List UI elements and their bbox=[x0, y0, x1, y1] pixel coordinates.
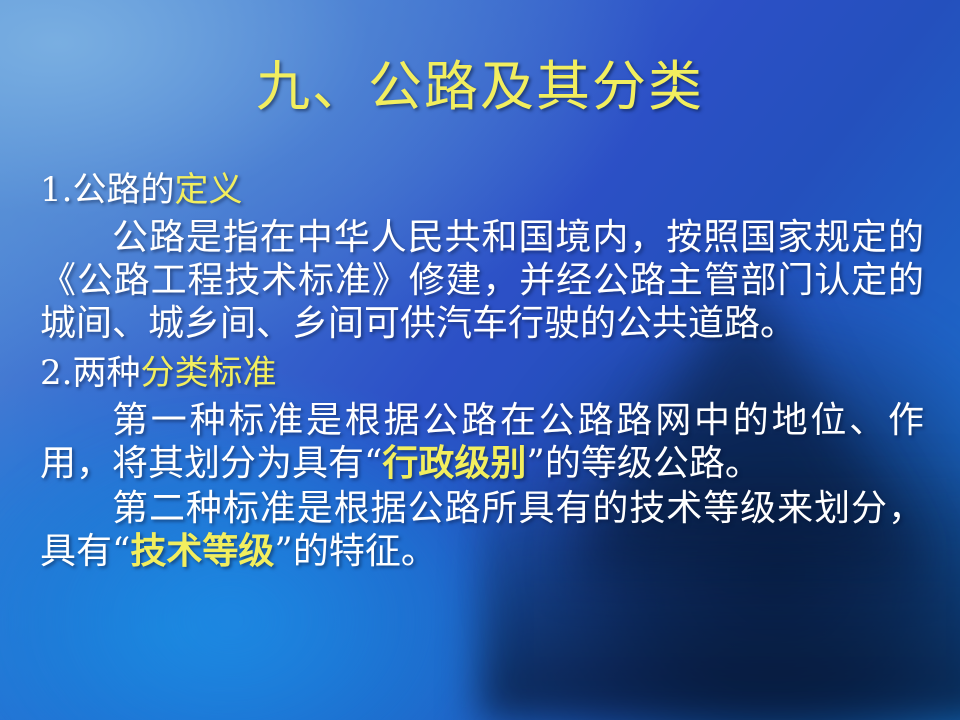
paragraph-standard-one: 第一种标准是根据公路在公路路网中的地位、作用，将其划分为具有“行政级别”的等级公… bbox=[40, 399, 924, 485]
paragraph-standard-one-after: ”的等级公路。 bbox=[526, 443, 760, 484]
paragraph-standard-two: 第二种标准是根据公路所具有的技术等级来划分，具有“技术等级”的特征。 bbox=[40, 487, 924, 573]
paragraph-standard-two-highlight: 技术等级 bbox=[130, 530, 274, 572]
heading-definition-plain: 1.公路的 bbox=[40, 170, 174, 210]
slide-title: 九、公路及其分类 bbox=[0, 56, 960, 118]
heading-standards-plain: 2.两种 bbox=[40, 353, 140, 393]
slide-content: 九、公路及其分类 1.公路的定义 公路是指在中华人民共和国境内，按照国家规定的《… bbox=[0, 0, 960, 720]
paragraph-standard-one-highlight: 行政级别 bbox=[382, 442, 526, 484]
heading-definition-highlight: 定义 bbox=[174, 170, 242, 210]
slide-body: 1.公路的定义 公路是指在中华人民共和国境内，按照国家规定的《公路工程技术标准》… bbox=[40, 168, 924, 573]
paragraph-standard-two-after: ”的特征。 bbox=[274, 531, 436, 572]
heading-standards-highlight: 分类标准 bbox=[140, 353, 276, 393]
heading-definition: 1.公路的定义 bbox=[40, 168, 924, 212]
paragraph-definition: 公路是指在中华人民共和国境内，按照国家规定的《公路工程技术标准》修建，并经公路主… bbox=[40, 216, 924, 345]
presentation-slide: 九、公路及其分类 1.公路的定义 公路是指在中华人民共和国境内，按照国家规定的《… bbox=[0, 0, 960, 720]
heading-standards: 2.两种分类标准 bbox=[40, 351, 924, 395]
